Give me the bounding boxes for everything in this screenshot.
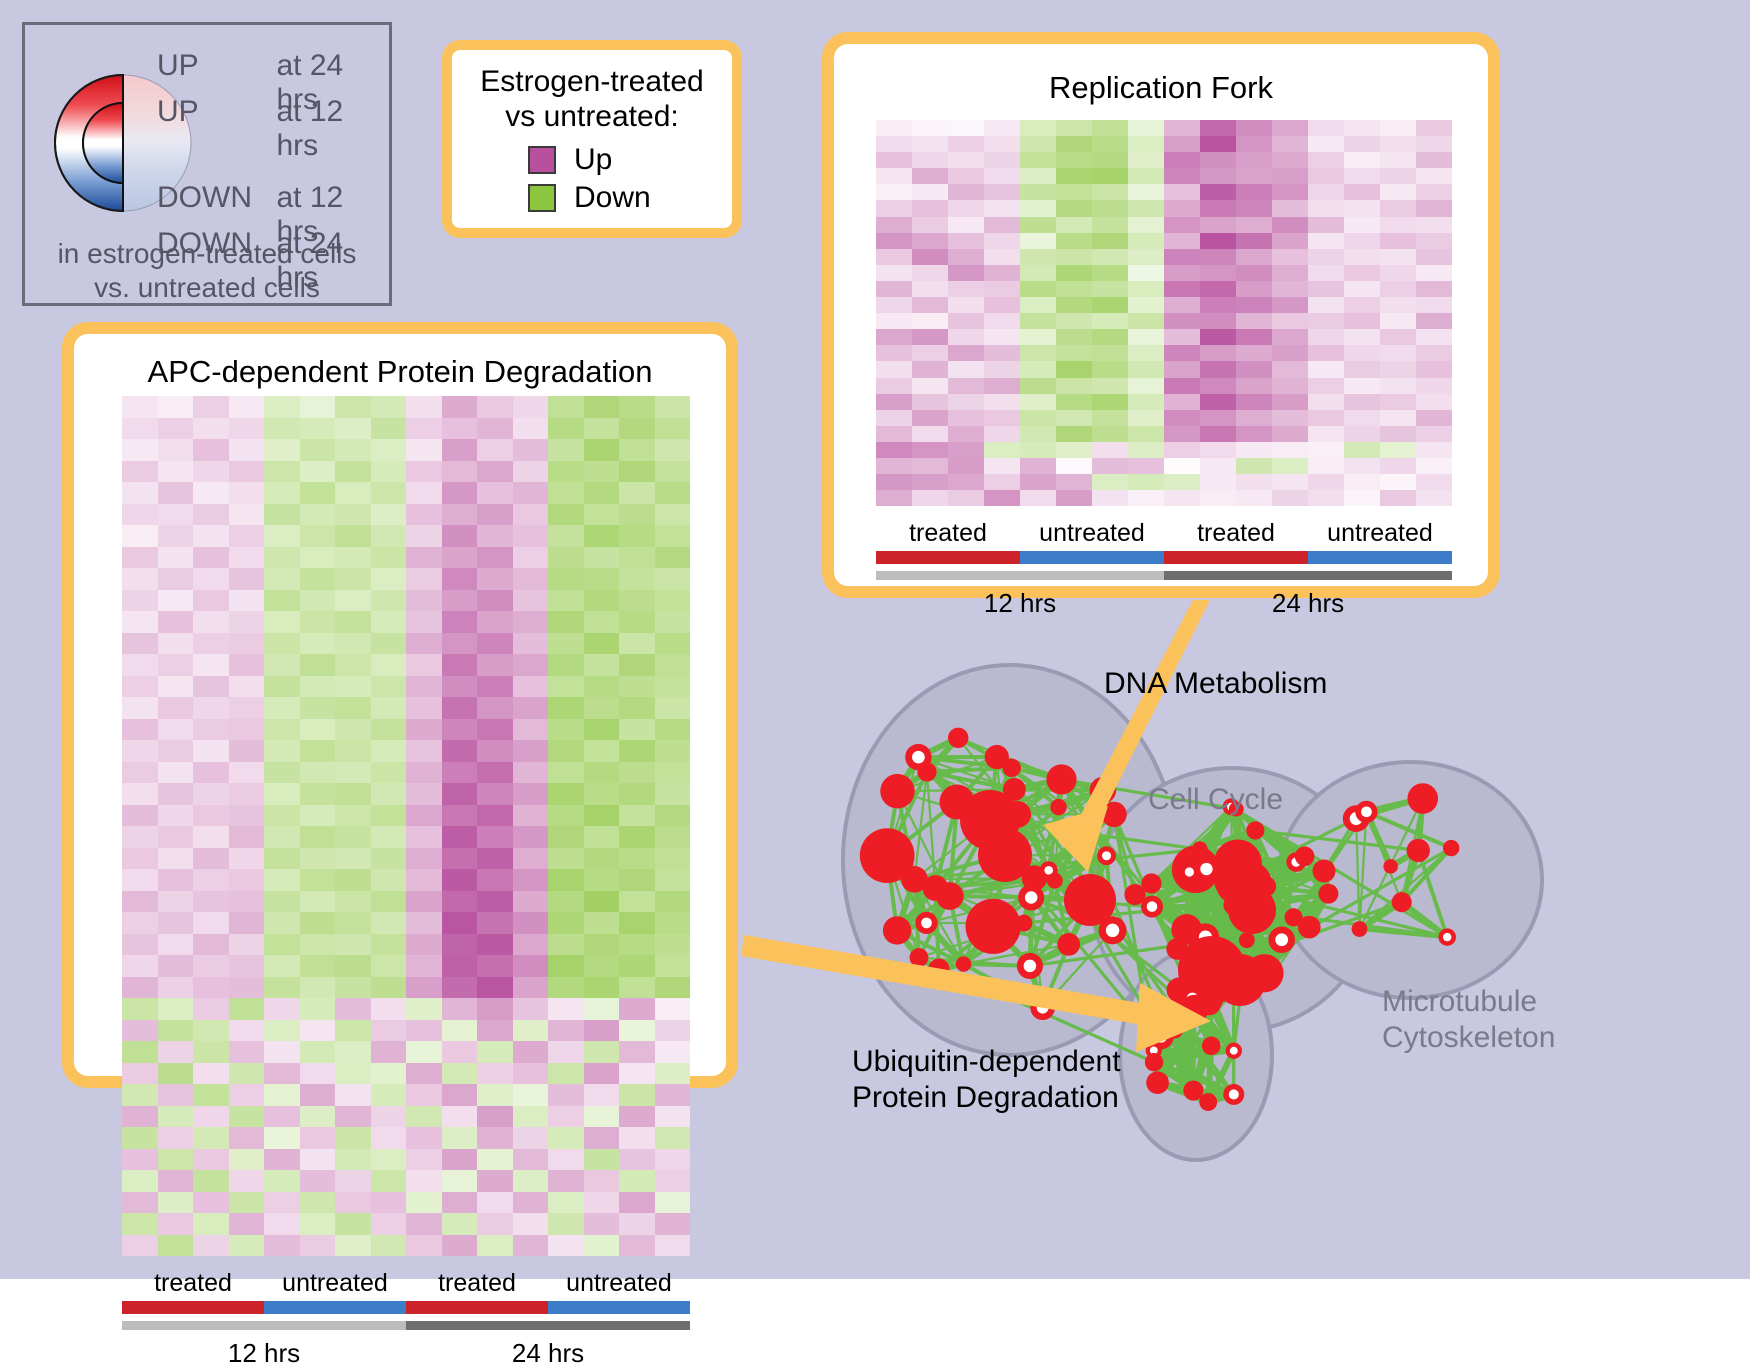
heatmap-cell xyxy=(371,525,407,547)
network-edge xyxy=(1252,862,1296,910)
heatmap-cell xyxy=(1164,394,1200,410)
network-edge xyxy=(1152,886,1266,906)
network-edge xyxy=(1198,940,1212,970)
network-edge xyxy=(1187,863,1238,929)
network-edge xyxy=(1252,910,1264,973)
heatmap-cell xyxy=(371,869,407,891)
network-edge xyxy=(1192,998,1209,1003)
label-line-1: Ubiquitin-dependent xyxy=(852,1044,1121,1080)
heatmap-cell xyxy=(584,740,620,762)
heatmap-cell xyxy=(513,568,549,590)
heatmap-cell xyxy=(513,676,549,698)
heatmap-cell xyxy=(229,1170,265,1192)
network-edge xyxy=(914,772,927,879)
network-edge xyxy=(1177,929,1186,948)
heatmap-cell xyxy=(948,200,984,216)
network-edge xyxy=(1151,869,1195,883)
heatmap-cell xyxy=(158,998,194,1020)
heatmap-cell xyxy=(1020,394,1056,410)
network-edge xyxy=(1174,1029,1234,1095)
network-edge xyxy=(958,738,1017,815)
heatmap-cell xyxy=(442,439,478,461)
heatmap-cell xyxy=(335,1041,371,1063)
heatmap-cell xyxy=(584,998,620,1020)
heatmap-cell xyxy=(300,826,336,848)
heatmap-cell xyxy=(371,1084,407,1106)
heatmap-cell xyxy=(477,1235,513,1257)
heatmap-cell xyxy=(1416,168,1452,184)
network-edge xyxy=(1200,849,1294,917)
heatmap-cell xyxy=(513,891,549,913)
heatmap-cell xyxy=(158,805,194,827)
heatmap-cell xyxy=(406,439,442,461)
panel-apc-dependent-protein-degradation: APC-dependent Protein Degradation treate… xyxy=(62,322,738,1088)
heatmap-cell xyxy=(876,265,912,281)
heatmap-cell xyxy=(912,394,948,410)
network-edge xyxy=(1255,830,1304,856)
network-node xyxy=(880,774,915,809)
network-node xyxy=(985,745,1009,769)
heatmap-cell xyxy=(406,762,442,784)
heatmap-cell xyxy=(1272,329,1308,345)
network-edge xyxy=(1245,830,1255,882)
heatmap-cell xyxy=(300,998,336,1020)
heatmap-cell xyxy=(1236,410,1272,426)
timepoint-segment xyxy=(876,571,1164,580)
heatmap-cell xyxy=(122,461,158,483)
network-edge xyxy=(1055,790,1103,880)
network-edge xyxy=(1196,869,1250,878)
network-edge xyxy=(919,896,950,958)
network-edge xyxy=(1018,807,1059,814)
network-edge xyxy=(1255,830,1281,939)
heatmap-cell xyxy=(335,1063,371,1085)
heatmap-cell xyxy=(371,633,407,655)
heatmap-cell xyxy=(655,654,691,676)
network-edge xyxy=(993,855,1005,926)
network-edge xyxy=(1418,799,1422,851)
arrow-replication-fork-to-dna-metabolism xyxy=(1043,600,1210,872)
network-edge xyxy=(897,896,950,930)
heatmap-cell xyxy=(619,719,655,741)
network-edge xyxy=(993,870,1049,926)
network-edge xyxy=(1174,1008,1179,1029)
heatmap-cell xyxy=(1380,490,1416,506)
network-edge xyxy=(1005,855,1049,870)
heatmap-cell xyxy=(335,633,371,655)
network-edge xyxy=(918,738,958,757)
heatmap-cell xyxy=(1164,233,1200,249)
network-edge xyxy=(1294,917,1310,927)
heatmap-cell xyxy=(1092,120,1128,136)
network-node xyxy=(948,728,968,748)
heatmap-cell xyxy=(158,590,194,612)
heatmap-cell xyxy=(1056,394,1092,410)
heatmap-cell xyxy=(1344,200,1380,216)
heatmap-cell xyxy=(1272,168,1308,184)
network-edge xyxy=(1252,894,1328,910)
network-edge xyxy=(1161,1029,1174,1037)
heatmap-cell xyxy=(335,1170,371,1192)
heatmap-cell xyxy=(1416,361,1452,377)
network-edge xyxy=(1090,814,1114,900)
heatmap-cell xyxy=(912,249,948,265)
column-label: treated xyxy=(122,1269,264,1298)
heatmap-cell xyxy=(548,525,584,547)
network-edge xyxy=(950,896,993,926)
heatmap-cell xyxy=(876,474,912,490)
network-edge xyxy=(1240,940,1282,980)
network-edge xyxy=(1206,869,1226,975)
heatmap-cell xyxy=(122,998,158,1020)
network-edge xyxy=(1174,998,1192,1029)
network-node xyxy=(1180,986,1204,1010)
network-edge xyxy=(898,791,990,820)
heatmap-cell xyxy=(1272,249,1308,265)
heatmap-cell xyxy=(912,265,948,281)
network-node xyxy=(1298,916,1321,939)
network-edge xyxy=(1031,824,1091,898)
heatmap-cell xyxy=(122,869,158,891)
heatmap-cell xyxy=(477,891,513,913)
heatmap-cell xyxy=(122,1106,158,1128)
heatmap-cell xyxy=(158,1084,194,1106)
heatmap-cell xyxy=(1092,458,1128,474)
network-edge xyxy=(1161,1009,1194,1037)
network-edge xyxy=(1174,1029,1211,1046)
heatmap-cell xyxy=(619,1020,655,1042)
heatmap-cell xyxy=(335,1020,371,1042)
heatmap-cell xyxy=(371,912,407,934)
heatmap-cell xyxy=(655,826,691,848)
heatmap-cell xyxy=(948,442,984,458)
heatmap-cell xyxy=(655,1192,691,1214)
heatmap-cell xyxy=(442,934,478,956)
heatmap-cell xyxy=(948,168,984,184)
heatmap-cell xyxy=(984,378,1020,394)
network-edge xyxy=(1266,871,1324,886)
heatmap-cell xyxy=(193,934,229,956)
network-edge xyxy=(1024,870,1049,923)
heatmap-cell xyxy=(1344,410,1380,426)
heatmap-cell xyxy=(1200,233,1236,249)
heatmap-cell xyxy=(158,762,194,784)
network-edge xyxy=(914,879,949,896)
heatmap-cell xyxy=(948,184,984,200)
heatmap-cell xyxy=(948,249,984,265)
network-edge xyxy=(1200,849,1234,905)
heatmap-cell xyxy=(876,329,912,345)
heatmap-cell xyxy=(1092,152,1128,168)
network-edge xyxy=(1205,937,1246,940)
network-node xyxy=(928,959,949,980)
heatmap-cell xyxy=(442,697,478,719)
heatmap-cell xyxy=(442,1020,478,1042)
heatmap-cell xyxy=(548,418,584,440)
network-edge xyxy=(1005,855,1090,900)
network-edge xyxy=(1360,902,1402,929)
heatmap-cell xyxy=(264,396,300,418)
network-node xyxy=(1286,852,1306,872)
heatmap-cell xyxy=(1128,474,1164,490)
heatmap-cell xyxy=(158,1063,194,1085)
network-edge xyxy=(1206,869,1264,973)
heatmap-cell xyxy=(300,1041,336,1063)
heatmap-cell xyxy=(229,568,265,590)
heatmap-cell xyxy=(1200,329,1236,345)
network-edge xyxy=(1252,886,1266,910)
sector-legend-row: UP at 12 hrs xyxy=(157,95,389,141)
heatmap-cell xyxy=(655,998,691,1020)
heatmap-cell xyxy=(335,1106,371,1128)
heatmap-cell xyxy=(193,912,229,934)
heatmap-cell xyxy=(584,977,620,999)
heatmap-cell xyxy=(1056,297,1092,313)
network-edge xyxy=(1200,849,1296,862)
network-edge xyxy=(919,958,1030,966)
network-edge xyxy=(1195,940,1281,955)
heatmap-cell xyxy=(477,1127,513,1149)
network-edge xyxy=(1247,885,1248,941)
heatmap-cell xyxy=(1344,297,1380,313)
heatmap-cell xyxy=(1200,265,1236,281)
heatmap-cell xyxy=(548,1020,584,1042)
heatmap-cell xyxy=(1272,281,1308,297)
heatmap-cell xyxy=(1056,313,1092,329)
heatmap-cell xyxy=(442,1063,478,1085)
network-edge xyxy=(1031,807,1058,897)
heatmap-cell xyxy=(548,676,584,698)
network-edge xyxy=(1247,886,1266,940)
network-edge xyxy=(1161,1003,1209,1036)
network-edge xyxy=(1151,883,1235,884)
network-edge xyxy=(1177,878,1250,948)
network-edge xyxy=(1177,940,1281,949)
network-edge xyxy=(1158,1009,1195,1083)
network-edge xyxy=(1189,872,1250,878)
heatmap-cell xyxy=(1164,281,1200,297)
heatmap-cell xyxy=(264,912,300,934)
heatmap-cell xyxy=(1128,168,1164,184)
network-edge xyxy=(1206,869,1266,886)
heatmap-cell xyxy=(1416,426,1452,442)
network-edge xyxy=(1294,812,1367,918)
title-line-2: vs untreated: xyxy=(452,99,732,134)
heatmap-cell xyxy=(371,805,407,827)
heatmap-cell xyxy=(1272,313,1308,329)
network-edge xyxy=(990,779,1062,820)
heatmap-cell xyxy=(477,418,513,440)
network-edge xyxy=(1247,910,1252,940)
network-node xyxy=(1097,846,1116,865)
network-edge xyxy=(1247,862,1296,940)
network-node xyxy=(1202,1036,1221,1055)
heatmap-cell xyxy=(584,676,620,698)
heatmap-cell xyxy=(371,1170,407,1192)
heatmap-cell xyxy=(513,1020,549,1042)
network-edge xyxy=(1198,940,1240,980)
network-edge xyxy=(1226,885,1235,976)
network-edge xyxy=(1154,1001,1213,1051)
heatmap-cell xyxy=(158,697,194,719)
network-edge xyxy=(964,926,994,964)
heatmap-cell xyxy=(619,633,655,655)
network-edge xyxy=(1240,878,1250,980)
network-edge xyxy=(1208,1051,1234,1102)
heatmap-cell xyxy=(1128,233,1164,249)
heatmap-cell xyxy=(984,136,1020,152)
network-edge xyxy=(1151,883,1152,906)
heatmap-cell xyxy=(948,233,984,249)
network-node xyxy=(1124,884,1145,905)
heatmap-cell xyxy=(300,1084,336,1106)
network-edge xyxy=(1233,905,1246,940)
heatmap-cell xyxy=(1200,442,1236,458)
network-edge xyxy=(1152,880,1234,907)
network-edge xyxy=(1236,809,1266,886)
network-edge xyxy=(1324,819,1356,871)
network-edge xyxy=(1091,824,1106,856)
network-edge xyxy=(957,802,1049,870)
sector-legend-footer: in estrogen-treated cells vs. untreated … xyxy=(25,237,389,305)
heatmap-cell xyxy=(158,912,194,934)
network-edge xyxy=(1034,878,1054,880)
network-edge xyxy=(1205,878,1249,937)
heatmap-cell xyxy=(193,482,229,504)
label-line-2: Protein Degradation xyxy=(852,1080,1121,1116)
heatmap-cell xyxy=(655,805,691,827)
heatmap-cell xyxy=(1200,490,1236,506)
heatmap-cell xyxy=(619,568,655,590)
network-node xyxy=(910,948,929,967)
heatmap-cell xyxy=(264,848,300,870)
column-label: untreated xyxy=(264,1269,406,1298)
network-edge xyxy=(964,878,1035,964)
heatmap-cell xyxy=(1380,361,1416,377)
network-edge xyxy=(997,757,1059,807)
network-edge xyxy=(1247,940,1265,973)
heatmap-cell xyxy=(548,1041,584,1063)
network-edge xyxy=(1189,872,1246,940)
heatmap-cell xyxy=(513,697,549,719)
network-edge xyxy=(1177,886,1266,948)
heatmap-cell xyxy=(229,418,265,440)
heatmap-cell xyxy=(193,396,229,418)
heatmap-cell xyxy=(300,676,336,698)
network-edge xyxy=(957,789,1014,801)
network-edge xyxy=(990,790,1103,820)
heatmap-cell xyxy=(1128,136,1164,152)
network-edge xyxy=(1158,1008,1180,1083)
panel-replication-fork: Replication Fork treated untreated treat… xyxy=(822,32,1500,598)
network-edge xyxy=(1158,1046,1212,1083)
heatmap-cell xyxy=(371,998,407,1020)
heatmap-cell xyxy=(619,590,655,612)
network-edge xyxy=(1214,917,1294,992)
network-edge xyxy=(935,888,993,926)
network-edge xyxy=(1233,871,1324,905)
heatmap-cell xyxy=(335,977,371,999)
heatmap-cell xyxy=(948,361,984,377)
network-edge xyxy=(939,926,993,969)
heatmap-cell xyxy=(655,762,691,784)
heatmap-cell xyxy=(876,136,912,152)
heatmap-cell xyxy=(1416,200,1452,216)
heatmap-cell xyxy=(122,1127,158,1149)
heatmap-cell xyxy=(1380,458,1416,474)
heatmap-cell xyxy=(1308,329,1344,345)
heatmap-cell xyxy=(477,1192,513,1214)
network-edge xyxy=(1187,929,1212,970)
heatmap-cell xyxy=(442,740,478,762)
network-edge xyxy=(1158,1003,1210,1082)
heatmap-cell xyxy=(548,1170,584,1192)
network-edge xyxy=(1255,830,1418,850)
heatmap-cell xyxy=(1380,184,1416,200)
heatmap-cell xyxy=(1056,249,1092,265)
heatmap-cell xyxy=(335,461,371,483)
heatmap-cell xyxy=(122,848,158,870)
heatmap-cell xyxy=(513,461,549,483)
time-label: 24 hrs xyxy=(406,1338,690,1369)
heatmap-cell xyxy=(1200,281,1236,297)
sector-legend-row: DOWN at 12 hrs xyxy=(157,181,389,227)
network-edge xyxy=(1264,940,1281,973)
network-edge xyxy=(1208,1094,1234,1102)
heatmap-cell xyxy=(264,1106,300,1128)
heatmap-cell xyxy=(193,461,229,483)
network-node xyxy=(1146,1071,1169,1094)
network-edge xyxy=(1245,883,1247,885)
network-node xyxy=(1392,892,1412,912)
heatmap-cell xyxy=(371,740,407,762)
network-node xyxy=(915,912,937,934)
heatmap-cell xyxy=(122,977,158,999)
heatmap-cell xyxy=(1380,297,1416,313)
network-edge xyxy=(1152,885,1236,907)
heatmap-cell xyxy=(1272,265,1308,281)
network-edge xyxy=(1152,907,1240,980)
heatmap-cell xyxy=(548,826,584,848)
heatmap-cell xyxy=(584,1127,620,1149)
heatmap-cell xyxy=(1416,410,1452,426)
heatmap-cell xyxy=(1020,281,1056,297)
heatmap-cell xyxy=(1020,426,1056,442)
network-edge xyxy=(898,791,950,896)
treatment-segment xyxy=(406,1301,548,1314)
network-edge xyxy=(1187,917,1294,929)
heatmap-cell xyxy=(371,1213,407,1235)
network-node xyxy=(1232,869,1259,896)
network-node xyxy=(940,784,975,819)
heatmap-cell xyxy=(912,200,948,216)
heatmap-cell xyxy=(1236,378,1272,394)
time-label: 12 hrs xyxy=(876,588,1164,619)
network-edge xyxy=(1402,848,1451,902)
heatmap-cell xyxy=(876,361,912,377)
heatmap-cell xyxy=(1200,426,1236,442)
heatmap-cell xyxy=(1236,426,1272,442)
network-edge xyxy=(1366,799,1422,812)
network-edge xyxy=(887,856,897,931)
network-edge xyxy=(1360,848,1452,929)
network-edge xyxy=(1236,809,1247,884)
heatmap-cell xyxy=(1308,249,1344,265)
heatmap-cell xyxy=(912,313,948,329)
treatment-segment xyxy=(264,1301,406,1314)
network-edge xyxy=(1154,1050,1158,1082)
heatmap-cell xyxy=(371,611,407,633)
